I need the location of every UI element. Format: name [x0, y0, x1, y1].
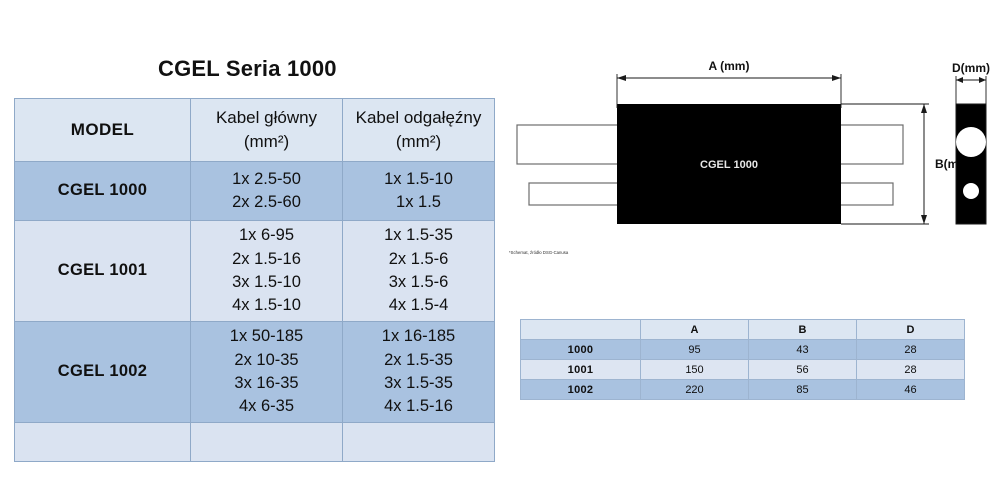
table-row-empty — [15, 423, 495, 462]
spec-row-main-2: 1x 50-185 2x 10-35 3x 16-35 4x 6-35 — [191, 322, 343, 423]
dim-header-b: B — [749, 320, 857, 340]
table-row: CGEL 1000 1x 2.5-50 2x 2.5-60 1x 1.5-10 … — [15, 162, 495, 221]
spec-value: 2x 2.5-60 — [191, 191, 342, 214]
dim-table-header-row: A B D — [521, 320, 965, 340]
dim-header-model — [521, 320, 641, 340]
dim-row-model-0: 1000 — [521, 340, 641, 360]
product-schematic-diagram: CGEL 1000 A (mm) B(mm) D(mm) — [505, 60, 1000, 260]
spec-value: 2x 1.5-35 — [343, 349, 494, 372]
dim-row-model-1: 1001 — [521, 360, 641, 380]
dim-row-model-2: 1002 — [521, 380, 641, 400]
spec-header-main-cable-label: Kabel główny — [191, 106, 342, 130]
left-upper-cable — [517, 125, 632, 164]
spec-value: 1x 6-95 — [191, 224, 342, 247]
spec-value: 3x 1.5-35 — [343, 372, 494, 395]
table-row: CGEL 1001 1x 6-95 2x 1.5-16 3x 1.5-10 4x… — [15, 221, 495, 322]
dim-row-a-1: 150 — [641, 360, 749, 380]
left-panel: CGEL Seria 1000 MODEL Kabel główny (mm²)… — [0, 0, 505, 500]
dim-header-a: A — [641, 320, 749, 340]
spec-row-branch-3 — [343, 423, 495, 462]
spec-row-model-3 — [15, 423, 191, 462]
spec-row-branch-0: 1x 1.5-10 1x 1.5 — [343, 162, 495, 221]
cross-section-large-hole — [956, 127, 986, 157]
dim-row-d-0: 28 — [857, 340, 965, 360]
spec-value: 3x 16-35 — [191, 372, 342, 395]
dim-row-d-2: 46 — [857, 380, 965, 400]
spec-value: 1x 1.5-35 — [343, 224, 494, 247]
right-upper-cable — [837, 125, 903, 164]
spec-value: 1x 1.5 — [343, 191, 494, 214]
table-row: 1002 220 85 46 — [521, 380, 965, 400]
dim-a-arrow-right — [832, 75, 841, 81]
table-row: 1001 150 56 28 — [521, 360, 965, 380]
spec-value: 1x 16-185 — [343, 325, 494, 348]
dim-a-label: A (mm) — [709, 60, 750, 73]
spec-row-model-0: CGEL 1000 — [15, 162, 191, 221]
spec-row-branch-2: 1x 16-185 2x 1.5-35 3x 1.5-35 4x 1.5-16 — [343, 322, 495, 423]
spec-header-main-cable-unit: (mm²) — [191, 130, 342, 154]
spec-row-main-1: 1x 6-95 2x 1.5-16 3x 1.5-10 4x 1.5-10 — [191, 221, 343, 322]
dim-header-d: D — [857, 320, 965, 340]
spec-value: 2x 1.5-16 — [191, 248, 342, 271]
dim-b-arrow-bottom — [921, 215, 927, 224]
dim-b-arrow-top — [921, 104, 927, 113]
spec-header-main-cable: Kabel główny (mm²) — [191, 99, 343, 162]
spec-value: 1x 50-185 — [191, 325, 342, 348]
spec-header-model: MODEL — [15, 99, 191, 162]
spec-header-branch-cable: Kabel odgałęźny (mm²) — [343, 99, 495, 162]
page-title: CGEL Seria 1000 — [158, 56, 337, 82]
spec-value: 4x 1.5-4 — [343, 294, 494, 317]
spec-table: MODEL Kabel główny (mm²) Kabel odgałęźny… — [14, 98, 495, 462]
dim-d-label: D(mm) — [952, 61, 990, 75]
right-lower-cable — [837, 183, 893, 205]
spec-value: 1x 2.5-50 — [191, 168, 342, 191]
spec-value: 4x 1.5-10 — [191, 294, 342, 317]
spec-value: 2x 10-35 — [191, 349, 342, 372]
spec-table-header-row: MODEL Kabel główny (mm²) Kabel odgałęźny… — [15, 99, 495, 162]
dim-d-arrow-right — [979, 77, 986, 83]
dim-row-b-0: 43 — [749, 340, 857, 360]
table-row: CGEL 1002 1x 50-185 2x 10-35 3x 16-35 4x… — [15, 322, 495, 423]
dim-d-arrow-left — [956, 77, 963, 83]
spec-value: 3x 1.5-6 — [343, 271, 494, 294]
dim-row-d-1: 28 — [857, 360, 965, 380]
dim-row-a-0: 95 — [641, 340, 749, 360]
spec-row-main-3 — [191, 423, 343, 462]
dim-row-b-2: 85 — [749, 380, 857, 400]
schematic-credit-note: *Schemat, źródło DSG-Canusa — [509, 250, 568, 255]
connector-body-label: CGEL 1000 — [700, 159, 758, 171]
spec-row-branch-1: 1x 1.5-35 2x 1.5-6 3x 1.5-6 4x 1.5-4 — [343, 221, 495, 322]
spec-value: 4x 1.5-16 — [343, 395, 494, 418]
dim-row-b-1: 56 — [749, 360, 857, 380]
right-panel: CGEL 1000 A (mm) B(mm) D(mm) *Schemat, ź… — [505, 0, 1000, 500]
spec-header-branch-cable-label: Kabel odgałęźny — [343, 106, 494, 130]
dim-row-a-2: 220 — [641, 380, 749, 400]
table-row: 1000 95 43 28 — [521, 340, 965, 360]
spec-value: 2x 1.5-6 — [343, 248, 494, 271]
cross-section-small-hole — [963, 183, 979, 199]
spec-header-branch-cable-unit: (mm²) — [343, 130, 494, 154]
spec-row-model-2: CGEL 1002 — [15, 322, 191, 423]
spec-value: 4x 6-35 — [191, 395, 342, 418]
spec-row-main-0: 1x 2.5-50 2x 2.5-60 — [191, 162, 343, 221]
dim-a-arrow-left — [617, 75, 626, 81]
cross-section-body — [956, 104, 986, 224]
spec-row-model-1: CGEL 1001 — [15, 221, 191, 322]
spec-value: 1x 1.5-10 — [343, 168, 494, 191]
spec-value: 3x 1.5-10 — [191, 271, 342, 294]
dimensions-table: A B D 1000 95 43 28 1001 150 56 28 1002 … — [520, 319, 965, 400]
